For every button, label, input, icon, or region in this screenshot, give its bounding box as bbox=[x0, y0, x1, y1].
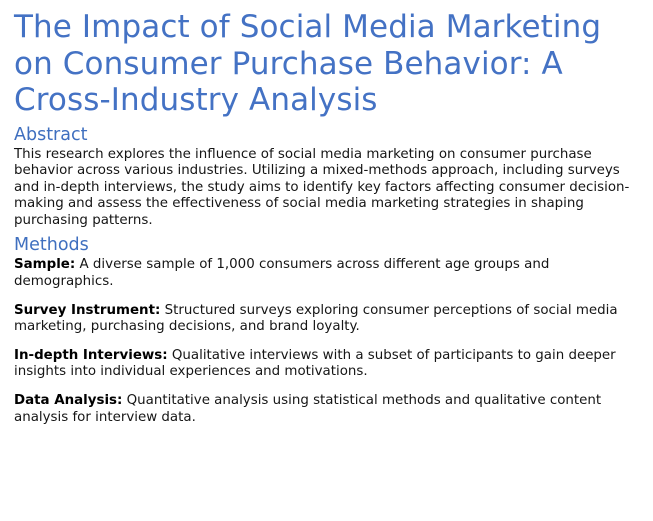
method-label: Sample: bbox=[14, 257, 75, 272]
method-entry-data-analysis: Data Analysis: Quantitative analysis usi… bbox=[14, 393, 637, 426]
method-label: Data Analysis: bbox=[14, 393, 122, 408]
method-label: In-depth Interviews: bbox=[14, 348, 168, 363]
abstract-section: Abstract This research explores the infl… bbox=[14, 125, 637, 230]
methods-section: Methods Sample: A diverse sample of 1,00… bbox=[14, 235, 637, 426]
methods-heading: Methods bbox=[14, 235, 637, 256]
method-description: A diverse sample of 1,000 consumers acro… bbox=[14, 257, 549, 289]
method-label: Survey Instrument: bbox=[14, 303, 160, 318]
method-entry-sample: Sample: A diverse sample of 1,000 consum… bbox=[14, 257, 637, 290]
document-page: The Impact of Social Media Marketing on … bbox=[0, 0, 653, 521]
method-entry-survey-instrument: Survey Instrument: Structured surveys ex… bbox=[14, 303, 637, 336]
abstract-heading: Abstract bbox=[14, 125, 637, 146]
abstract-body: This research explores the influence of … bbox=[14, 147, 637, 230]
page-title: The Impact of Social Media Marketing on … bbox=[14, 9, 637, 119]
method-entry-in-depth-interviews: In-depth Interviews: Qualitative intervi… bbox=[14, 348, 637, 381]
